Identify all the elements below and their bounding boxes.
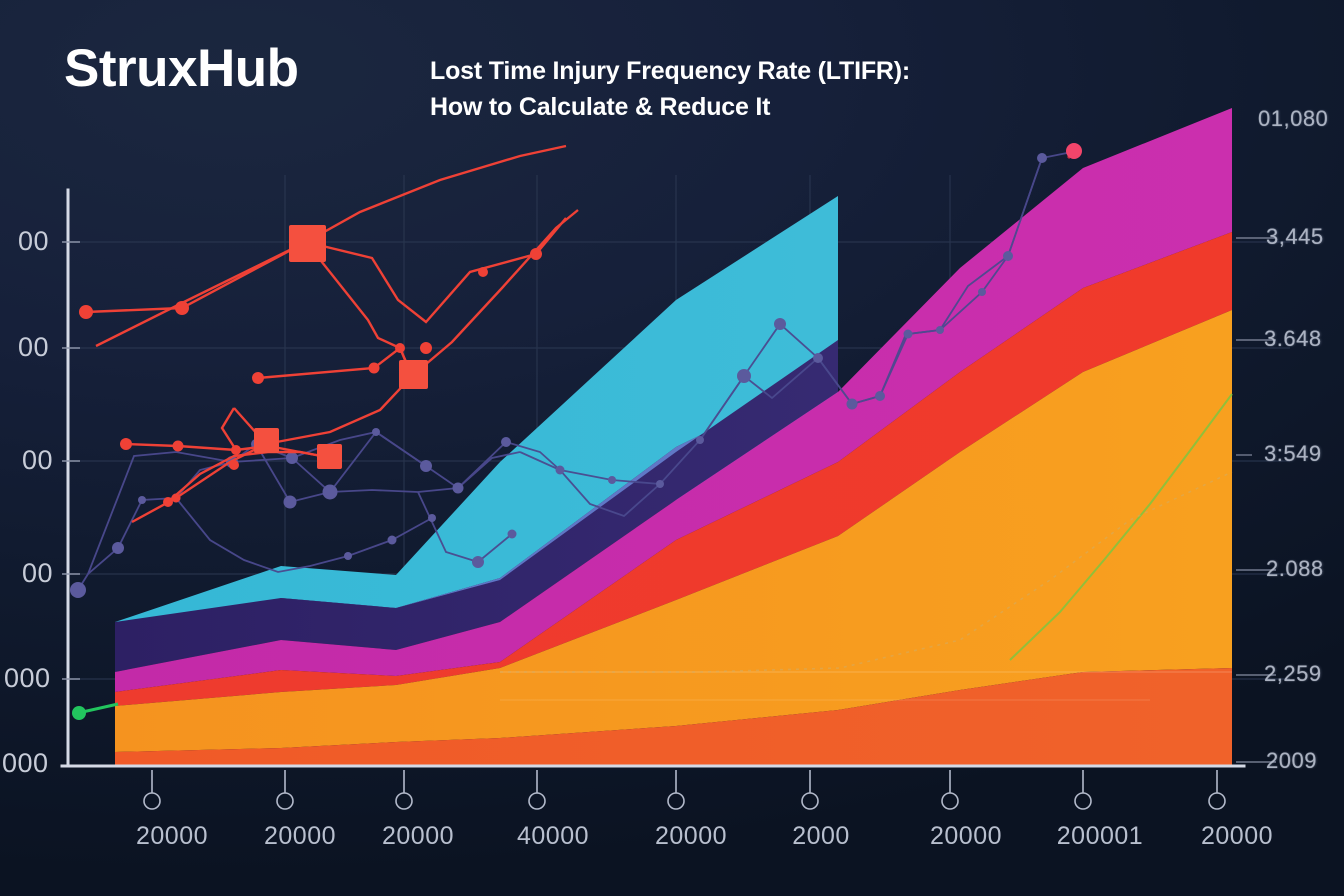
area-chart: [0, 0, 1344, 896]
y-axis-label-right-3: 3:549: [1264, 441, 1322, 467]
y-axis-label-left-1: 00: [18, 332, 49, 363]
x-axis-label-6: 20000: [930, 822, 1002, 851]
y-axis-label-right-5: 2,259: [1264, 661, 1322, 687]
y-axis-label-right-0: 01,080: [1258, 106, 1328, 132]
x-axis-label-8: 20000: [1201, 822, 1273, 851]
x-axis-label-5: 2000: [792, 822, 850, 851]
y-axis-label-right-4: 2.088: [1266, 556, 1324, 582]
y-axis-label-left-0: 00: [18, 226, 49, 257]
x-axis-label-3: 40000: [517, 822, 589, 851]
y-axis-label-right-2: 3.648: [1264, 326, 1322, 352]
y-axis-ticks: [62, 242, 80, 679]
chart-page: StruxHub Lost Time Injury Frequency Rate…: [0, 0, 1344, 896]
stacked-area-bands: [115, 108, 1232, 766]
green-line-series: [72, 704, 118, 720]
red-highlight-node: [1066, 143, 1082, 159]
x-axis-label-1: 20000: [264, 822, 336, 851]
y-axis-label-left-4: 000: [4, 663, 51, 694]
red-network-circle-markers: [79, 248, 542, 507]
x-axis-label-2: 20000: [382, 822, 454, 851]
y-axis-label-right-1: 3,445: [1266, 224, 1324, 250]
x-axis-tick-handles[interactable]: [144, 770, 1225, 809]
x-axis-label-4: 20000: [655, 822, 727, 851]
y-axis-label-left-2: 00: [22, 445, 53, 476]
y-axis-label-left-5: 000: [2, 748, 49, 779]
y-axis-label-left-3: 00: [22, 558, 53, 589]
x-axis-label-7: 200001: [1057, 822, 1143, 851]
y-axis-label-right-6: 2009: [1266, 748, 1317, 774]
x-axis-label-0: 20000: [136, 822, 208, 851]
